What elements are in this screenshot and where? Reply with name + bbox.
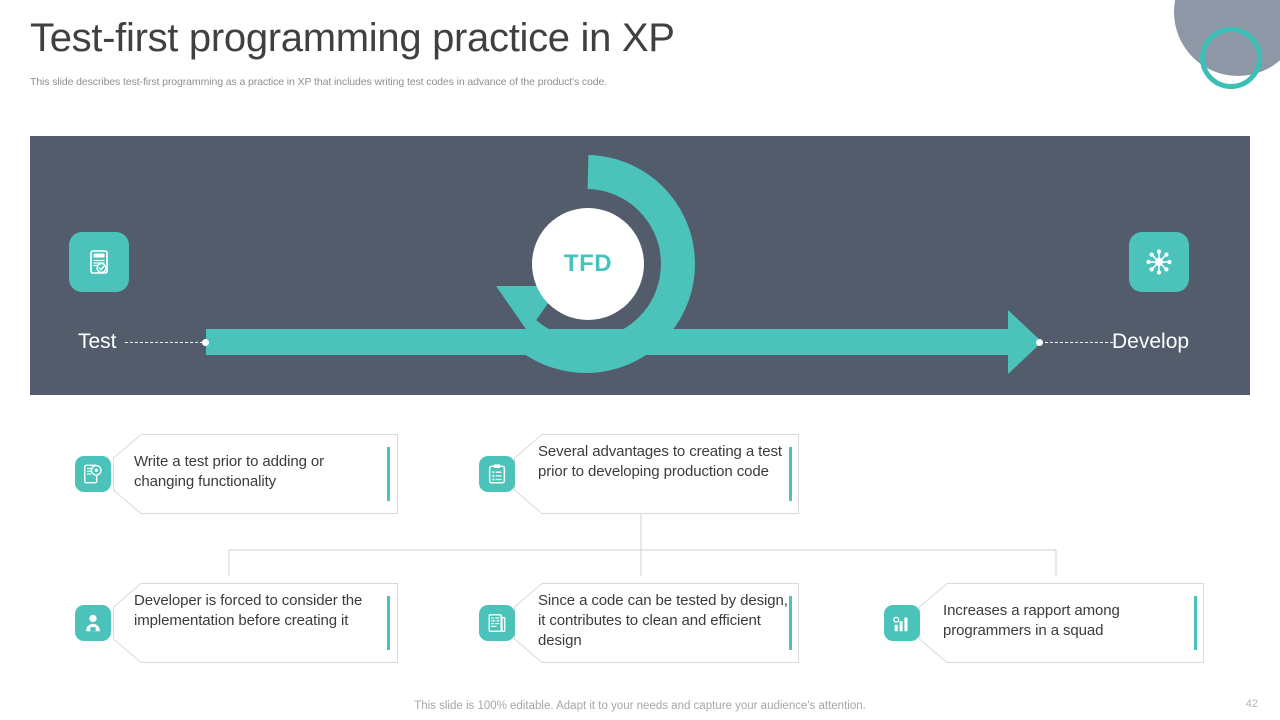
info-card-text: Several advantages to creating a test pr…: [538, 442, 788, 482]
develop-node-dot: [1036, 339, 1043, 346]
info-card-accent: [387, 596, 390, 650]
document-settings-icon-tile: [75, 456, 111, 492]
network-hub-icon: [1144, 247, 1174, 277]
decorative-teal-ring: [1200, 27, 1262, 89]
bar-chart-icon: [891, 612, 913, 634]
test-node-dot: [202, 339, 209, 346]
clipboard-list-icon-tile: [479, 456, 515, 492]
tfd-label: TFD: [564, 250, 612, 278]
test-icon-tile: [69, 232, 129, 292]
develop-icon-tile: [1129, 232, 1189, 292]
document-code-icon: [486, 612, 508, 634]
info-card-text: Since a code can be tested by design, it…: [538, 591, 788, 651]
info-card-text: Increases a rapport among programmers in…: [943, 601, 1193, 641]
footer-note: This slide is 100% editable. Adapt it to…: [0, 700, 1280, 712]
info-card-accent: [789, 447, 792, 501]
document-settings-icon: [82, 463, 104, 485]
test-endpoint-label: Test: [78, 330, 117, 354]
tfd-center-circle: TFD: [532, 208, 644, 320]
develop-connector-line: [1045, 342, 1113, 343]
info-card-accent: [789, 596, 792, 650]
page-subtitle: This slide describes test-first programm…: [30, 76, 607, 88]
info-card-text: Developer is forced to consider the impl…: [134, 591, 384, 631]
develop-endpoint-label: Develop: [1112, 330, 1189, 354]
test-document-check-icon: [84, 247, 114, 277]
user-badge-icon: [82, 612, 104, 634]
clipboard-list-icon: [486, 463, 508, 485]
info-card-text: Write a test prior to adding or changing…: [134, 452, 379, 492]
bar-chart-icon-tile: [884, 605, 920, 641]
info-card-accent: [1194, 596, 1197, 650]
page-title: Test-first programming practice in XP: [30, 16, 675, 61]
diagram-panel: TFD Test: [30, 136, 1250, 395]
page-number: 42: [1246, 698, 1258, 710]
user-badge-icon-tile: [75, 605, 111, 641]
document-code-icon-tile: [479, 605, 515, 641]
info-card-accent: [387, 447, 390, 501]
test-connector-line: [125, 342, 203, 343]
